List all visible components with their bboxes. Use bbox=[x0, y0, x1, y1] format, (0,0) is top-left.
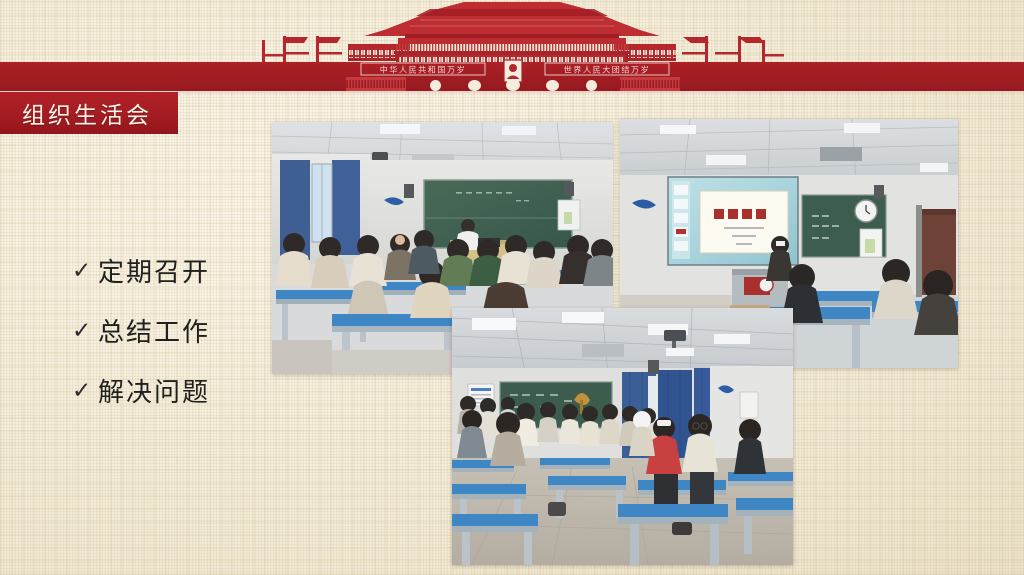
slide-title-band: 组织生活会 bbox=[0, 92, 178, 134]
list-item-label: 总结工作 bbox=[98, 312, 210, 349]
gate-building bbox=[364, 2, 660, 63]
list-item: ✓ 总结工作 bbox=[72, 303, 302, 357]
page-title: 组织生活会 bbox=[0, 96, 152, 130]
slogan-left-text: 中华人民共和国万岁 bbox=[380, 65, 466, 75]
flagpoles-far-right bbox=[739, 40, 784, 62]
flagpoles-right bbox=[682, 36, 764, 62]
check-icon: ✓ bbox=[72, 319, 98, 342]
bullet-list: ✓ 定期召开 ✓ 总结工作 ✓ 解决问题 bbox=[72, 243, 302, 423]
slide-root: 中华人民共和国万岁 世界人民大团结万岁 bbox=[0, 0, 1024, 575]
header-banner: 中华人民共和国万岁 世界人民大团结万岁 bbox=[0, 0, 1024, 100]
list-item: ✓ 解决问题 bbox=[72, 363, 302, 417]
list-item-label: 解决问题 bbox=[98, 372, 210, 409]
flagpoles-far-left bbox=[262, 40, 284, 62]
check-icon: ✓ bbox=[72, 379, 98, 402]
check-icon: ✓ bbox=[72, 259, 98, 282]
blackboard bbox=[424, 180, 572, 248]
photo-classroom-front bbox=[452, 308, 793, 565]
list-item-label: 定期召开 bbox=[98, 252, 210, 289]
list-item: ✓ 定期召开 bbox=[72, 243, 302, 297]
portrait-frame bbox=[504, 60, 522, 82]
slogan-right-text: 世界人民大团结万岁 bbox=[564, 65, 650, 75]
flagpoles-left bbox=[283, 36, 342, 62]
